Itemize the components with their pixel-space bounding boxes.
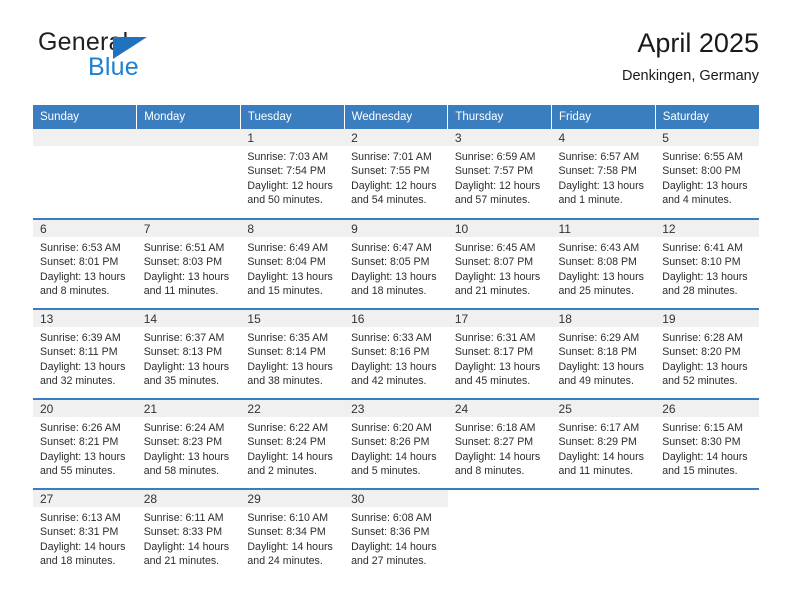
daylight-duration-line1: Daylight: 13 hours bbox=[662, 270, 754, 284]
calendar-day-cell[interactable]: 6Sunrise: 6:53 AMSunset: 8:01 PMDaylight… bbox=[33, 219, 137, 309]
day-number: 26 bbox=[655, 400, 759, 417]
calendar-day-cell[interactable]: 20Sunrise: 6:26 AMSunset: 8:21 PMDayligh… bbox=[33, 399, 137, 489]
calendar-week-row: 20Sunrise: 6:26 AMSunset: 8:21 PMDayligh… bbox=[33, 399, 759, 489]
day-number: 14 bbox=[137, 310, 241, 327]
day-details: Sunrise: 6:08 AMSunset: 8:36 PMDaylight:… bbox=[344, 507, 448, 569]
calendar-body: 1Sunrise: 7:03 AMSunset: 7:54 PMDaylight… bbox=[33, 129, 759, 579]
weekday-header-saturday: Saturday bbox=[655, 105, 759, 129]
day-number: 6 bbox=[33, 220, 137, 237]
daylight-duration-line1: Daylight: 14 hours bbox=[351, 450, 443, 464]
sunrise-time: Sunrise: 6:43 AM bbox=[559, 241, 651, 255]
day-cell-inner: 26Sunrise: 6:15 AMSunset: 8:30 PMDayligh… bbox=[655, 400, 759, 488]
sunrise-time: Sunrise: 6:08 AM bbox=[351, 511, 443, 525]
sunrise-time: Sunrise: 6:35 AM bbox=[247, 331, 339, 345]
day-cell-inner: 28Sunrise: 6:11 AMSunset: 8:33 PMDayligh… bbox=[137, 490, 241, 578]
daylight-duration-line2: and 49 minutes. bbox=[559, 374, 651, 388]
day-number: 7 bbox=[137, 220, 241, 237]
calendar-day-cell[interactable]: 24Sunrise: 6:18 AMSunset: 8:27 PMDayligh… bbox=[448, 399, 552, 489]
day-number bbox=[552, 490, 656, 507]
sunset-time: Sunset: 8:31 PM bbox=[40, 525, 132, 539]
day-cell-inner: 19Sunrise: 6:28 AMSunset: 8:20 PMDayligh… bbox=[655, 310, 759, 398]
day-cell-inner: 22Sunrise: 6:22 AMSunset: 8:24 PMDayligh… bbox=[240, 400, 344, 488]
calendar-day-cell[interactable]: 17Sunrise: 6:31 AMSunset: 8:17 PMDayligh… bbox=[448, 309, 552, 399]
daylight-duration-line1: Daylight: 14 hours bbox=[144, 540, 236, 554]
day-number: 12 bbox=[655, 220, 759, 237]
page-title: April 2025 bbox=[622, 26, 759, 60]
day-number: 19 bbox=[655, 310, 759, 327]
day-number: 10 bbox=[448, 220, 552, 237]
sunset-time: Sunset: 7:54 PM bbox=[247, 164, 339, 178]
day-cell-inner: 5Sunrise: 6:55 AMSunset: 8:00 PMDaylight… bbox=[655, 129, 759, 217]
day-details: Sunrise: 6:37 AMSunset: 8:13 PMDaylight:… bbox=[137, 327, 241, 389]
sunrise-time: Sunrise: 6:28 AM bbox=[662, 331, 754, 345]
daylight-duration-line1: Daylight: 13 hours bbox=[455, 360, 547, 374]
day-cell-inner: 16Sunrise: 6:33 AMSunset: 8:16 PMDayligh… bbox=[344, 310, 448, 398]
calendar-day-cell[interactable]: 30Sunrise: 6:08 AMSunset: 8:36 PMDayligh… bbox=[344, 489, 448, 579]
daylight-duration-line1: Daylight: 13 hours bbox=[247, 360, 339, 374]
sunset-time: Sunset: 8:00 PM bbox=[662, 164, 754, 178]
day-cell-inner: 24Sunrise: 6:18 AMSunset: 8:27 PMDayligh… bbox=[448, 400, 552, 488]
day-details: Sunrise: 6:43 AMSunset: 8:08 PMDaylight:… bbox=[552, 237, 656, 299]
day-cell-inner: 30Sunrise: 6:08 AMSunset: 8:36 PMDayligh… bbox=[344, 490, 448, 578]
sunset-time: Sunset: 7:57 PM bbox=[455, 164, 547, 178]
day-details: Sunrise: 7:01 AMSunset: 7:55 PMDaylight:… bbox=[344, 146, 448, 208]
daylight-duration-line1: Daylight: 13 hours bbox=[351, 360, 443, 374]
day-details: Sunrise: 6:29 AMSunset: 8:18 PMDaylight:… bbox=[552, 327, 656, 389]
daylight-duration-line1: Daylight: 13 hours bbox=[144, 450, 236, 464]
day-number: 25 bbox=[552, 400, 656, 417]
daylight-duration-line1: Daylight: 13 hours bbox=[144, 360, 236, 374]
day-number: 18 bbox=[552, 310, 656, 327]
sunset-time: Sunset: 8:04 PM bbox=[247, 255, 339, 269]
day-number bbox=[655, 490, 759, 507]
sunset-time: Sunset: 8:26 PM bbox=[351, 435, 443, 449]
calendar-day-cell[interactable]: 10Sunrise: 6:45 AMSunset: 8:07 PMDayligh… bbox=[448, 219, 552, 309]
day-details: Sunrise: 6:17 AMSunset: 8:29 PMDaylight:… bbox=[552, 417, 656, 479]
sunset-time: Sunset: 8:34 PM bbox=[247, 525, 339, 539]
daylight-duration-line2: and 18 minutes. bbox=[351, 284, 443, 298]
calendar-day-cell[interactable]: 22Sunrise: 6:22 AMSunset: 8:24 PMDayligh… bbox=[240, 399, 344, 489]
daylight-duration-line1: Daylight: 13 hours bbox=[144, 270, 236, 284]
sunrise-time: Sunrise: 6:10 AM bbox=[247, 511, 339, 525]
sunset-time: Sunset: 7:58 PM bbox=[559, 164, 651, 178]
day-cell-inner: 25Sunrise: 6:17 AMSunset: 8:29 PMDayligh… bbox=[552, 400, 656, 488]
day-cell-inner: 21Sunrise: 6:24 AMSunset: 8:23 PMDayligh… bbox=[137, 400, 241, 488]
sunset-time: Sunset: 8:27 PM bbox=[455, 435, 547, 449]
sunset-time: Sunset: 8:13 PM bbox=[144, 345, 236, 359]
day-details: Sunrise: 6:51 AMSunset: 8:03 PMDaylight:… bbox=[137, 237, 241, 299]
daylight-duration-line2: and 57 minutes. bbox=[455, 193, 547, 207]
daylight-duration-line2: and 28 minutes. bbox=[662, 284, 754, 298]
daylight-duration-line1: Daylight: 12 hours bbox=[351, 179, 443, 193]
sunset-time: Sunset: 8:17 PM bbox=[455, 345, 547, 359]
day-number: 24 bbox=[448, 400, 552, 417]
calendar-day-cell[interactable]: 11Sunrise: 6:43 AMSunset: 8:08 PMDayligh… bbox=[552, 219, 656, 309]
sunset-time: Sunset: 8:14 PM bbox=[247, 345, 339, 359]
sunset-time: Sunset: 8:08 PM bbox=[559, 255, 651, 269]
daylight-duration-line1: Daylight: 13 hours bbox=[40, 450, 132, 464]
sunset-time: Sunset: 7:55 PM bbox=[351, 164, 443, 178]
sunrise-time: Sunrise: 6:22 AM bbox=[247, 421, 339, 435]
day-details: Sunrise: 6:22 AMSunset: 8:24 PMDaylight:… bbox=[240, 417, 344, 479]
sunset-time: Sunset: 8:18 PM bbox=[559, 345, 651, 359]
daylight-duration-line2: and 25 minutes. bbox=[559, 284, 651, 298]
sunset-time: Sunset: 8:03 PM bbox=[144, 255, 236, 269]
sunset-time: Sunset: 8:01 PM bbox=[40, 255, 132, 269]
calendar-empty-cell bbox=[448, 489, 552, 579]
weekday-header-friday: Friday bbox=[552, 105, 656, 129]
calendar-day-cell[interactable]: 15Sunrise: 6:35 AMSunset: 8:14 PMDayligh… bbox=[240, 309, 344, 399]
sunset-time: Sunset: 8:07 PM bbox=[455, 255, 547, 269]
calendar-day-cell[interactable]: 19Sunrise: 6:28 AMSunset: 8:20 PMDayligh… bbox=[655, 309, 759, 399]
day-details: Sunrise: 6:10 AMSunset: 8:34 PMDaylight:… bbox=[240, 507, 344, 569]
page-header: General Blue April 2025 Denkingen, Germa… bbox=[33, 28, 759, 98]
sunset-time: Sunset: 8:24 PM bbox=[247, 435, 339, 449]
day-cell-inner: 3Sunrise: 6:59 AMSunset: 7:57 PMDaylight… bbox=[448, 129, 552, 217]
daylight-duration-line2: and 27 minutes. bbox=[351, 554, 443, 568]
calendar-day-cell[interactable]: 27Sunrise: 6:13 AMSunset: 8:31 PMDayligh… bbox=[33, 489, 137, 579]
calendar-day-cell[interactable]: 4Sunrise: 6:57 AMSunset: 7:58 PMDaylight… bbox=[552, 129, 656, 219]
day-cell-inner bbox=[137, 129, 241, 217]
daylight-duration-line2: and 58 minutes. bbox=[144, 464, 236, 478]
day-details: Sunrise: 6:39 AMSunset: 8:11 PMDaylight:… bbox=[33, 327, 137, 389]
calendar-day-cell[interactable]: 18Sunrise: 6:29 AMSunset: 8:18 PMDayligh… bbox=[552, 309, 656, 399]
daylight-duration-line1: Daylight: 14 hours bbox=[40, 540, 132, 554]
daylight-duration-line1: Daylight: 13 hours bbox=[559, 179, 651, 193]
calendar-day-cell[interactable]: 21Sunrise: 6:24 AMSunset: 8:23 PMDayligh… bbox=[137, 399, 241, 489]
day-details: Sunrise: 6:59 AMSunset: 7:57 PMDaylight:… bbox=[448, 146, 552, 208]
day-number: 30 bbox=[344, 490, 448, 507]
day-cell-inner: 20Sunrise: 6:26 AMSunset: 8:21 PMDayligh… bbox=[33, 400, 137, 488]
calendar-day-cell[interactable]: 13Sunrise: 6:39 AMSunset: 8:11 PMDayligh… bbox=[33, 309, 137, 399]
daylight-duration-line2: and 2 minutes. bbox=[247, 464, 339, 478]
calendar-day-cell[interactable]: 14Sunrise: 6:37 AMSunset: 8:13 PMDayligh… bbox=[137, 309, 241, 399]
day-details: Sunrise: 6:33 AMSunset: 8:16 PMDaylight:… bbox=[344, 327, 448, 389]
daylight-duration-line2: and 1 minute. bbox=[559, 193, 651, 207]
day-details: Sunrise: 6:24 AMSunset: 8:23 PMDaylight:… bbox=[137, 417, 241, 479]
day-number: 3 bbox=[448, 129, 552, 146]
calendar-week-row: 27Sunrise: 6:13 AMSunset: 8:31 PMDayligh… bbox=[33, 489, 759, 579]
daylight-duration-line2: and 52 minutes. bbox=[662, 374, 754, 388]
daylight-duration-line1: Daylight: 13 hours bbox=[662, 360, 754, 374]
logo-text-blue: Blue bbox=[88, 53, 139, 82]
day-cell-inner: 11Sunrise: 6:43 AMSunset: 8:08 PMDayligh… bbox=[552, 220, 656, 308]
day-details: Sunrise: 6:28 AMSunset: 8:20 PMDaylight:… bbox=[655, 327, 759, 389]
sunrise-time: Sunrise: 6:39 AM bbox=[40, 331, 132, 345]
sunrise-time: Sunrise: 6:18 AM bbox=[455, 421, 547, 435]
day-number: 17 bbox=[448, 310, 552, 327]
day-number: 2 bbox=[344, 129, 448, 146]
sunrise-time: Sunrise: 6:11 AM bbox=[144, 511, 236, 525]
sunset-time: Sunset: 8:30 PM bbox=[662, 435, 754, 449]
day-number: 1 bbox=[240, 129, 344, 146]
calendar-day-cell[interactable]: 12Sunrise: 6:41 AMSunset: 8:10 PMDayligh… bbox=[655, 219, 759, 309]
daylight-duration-line1: Daylight: 13 hours bbox=[559, 360, 651, 374]
calendar-empty-cell bbox=[33, 129, 137, 219]
day-details: Sunrise: 6:35 AMSunset: 8:14 PMDaylight:… bbox=[240, 327, 344, 389]
sunrise-time: Sunrise: 6:17 AM bbox=[559, 421, 651, 435]
day-details bbox=[137, 146, 241, 150]
daylight-duration-line2: and 21 minutes. bbox=[455, 284, 547, 298]
daylight-duration-line1: Daylight: 14 hours bbox=[455, 450, 547, 464]
day-number: 23 bbox=[344, 400, 448, 417]
sunrise-time: Sunrise: 7:03 AM bbox=[247, 150, 339, 164]
day-cell-inner bbox=[33, 129, 137, 217]
weekday-header-tuesday: Tuesday bbox=[240, 105, 344, 129]
day-cell-inner: 27Sunrise: 6:13 AMSunset: 8:31 PMDayligh… bbox=[33, 490, 137, 578]
daylight-duration-line2: and 8 minutes. bbox=[455, 464, 547, 478]
calendar-week-row: 6Sunrise: 6:53 AMSunset: 8:01 PMDaylight… bbox=[33, 219, 759, 309]
daylight-duration-line2: and 11 minutes. bbox=[144, 284, 236, 298]
calendar-day-cell[interactable]: 2Sunrise: 7:01 AMSunset: 7:55 PMDaylight… bbox=[344, 129, 448, 219]
sunrise-time: Sunrise: 6:45 AM bbox=[455, 241, 547, 255]
day-details bbox=[33, 146, 137, 150]
day-number: 20 bbox=[33, 400, 137, 417]
day-number bbox=[33, 129, 137, 146]
calendar-page: General Blue April 2025 Denkingen, Germa… bbox=[0, 0, 792, 612]
weekday-header-thursday: Thursday bbox=[448, 105, 552, 129]
page-subtitle: Denkingen, Germany bbox=[622, 65, 759, 87]
sunset-time: Sunset: 8:10 PM bbox=[662, 255, 754, 269]
day-cell-inner: 4Sunrise: 6:57 AMSunset: 7:58 PMDaylight… bbox=[552, 129, 656, 217]
day-number: 22 bbox=[240, 400, 344, 417]
daylight-duration-line1: Daylight: 14 hours bbox=[662, 450, 754, 464]
day-number: 21 bbox=[137, 400, 241, 417]
calendar-day-cell[interactable]: 23Sunrise: 6:20 AMSunset: 8:26 PMDayligh… bbox=[344, 399, 448, 489]
sunset-time: Sunset: 8:16 PM bbox=[351, 345, 443, 359]
day-details: Sunrise: 7:03 AMSunset: 7:54 PMDaylight:… bbox=[240, 146, 344, 208]
daylight-duration-line1: Daylight: 13 hours bbox=[662, 179, 754, 193]
daylight-duration-line2: and 24 minutes. bbox=[247, 554, 339, 568]
day-number: 11 bbox=[552, 220, 656, 237]
day-details: Sunrise: 6:41 AMSunset: 8:10 PMDaylight:… bbox=[655, 237, 759, 299]
daylight-duration-line1: Daylight: 14 hours bbox=[247, 540, 339, 554]
sunrise-time: Sunrise: 6:33 AM bbox=[351, 331, 443, 345]
sunset-time: Sunset: 8:21 PM bbox=[40, 435, 132, 449]
day-details: Sunrise: 6:11 AMSunset: 8:33 PMDaylight:… bbox=[137, 507, 241, 569]
calendar-day-cell[interactable]: 3Sunrise: 6:59 AMSunset: 7:57 PMDaylight… bbox=[448, 129, 552, 219]
sunset-time: Sunset: 8:11 PM bbox=[40, 345, 132, 359]
daylight-duration-line2: and 15 minutes. bbox=[662, 464, 754, 478]
daylight-duration-line2: and 32 minutes. bbox=[40, 374, 132, 388]
day-details: Sunrise: 6:47 AMSunset: 8:05 PMDaylight:… bbox=[344, 237, 448, 299]
day-details: Sunrise: 6:13 AMSunset: 8:31 PMDaylight:… bbox=[33, 507, 137, 569]
daylight-duration-line2: and 50 minutes. bbox=[247, 193, 339, 207]
daylight-duration-line2: and 38 minutes. bbox=[247, 374, 339, 388]
sunrise-time: Sunrise: 6:29 AM bbox=[559, 331, 651, 345]
daylight-duration-line2: and 18 minutes. bbox=[40, 554, 132, 568]
day-cell-inner: 17Sunrise: 6:31 AMSunset: 8:17 PMDayligh… bbox=[448, 310, 552, 398]
daylight-duration-line1: Daylight: 14 hours bbox=[247, 450, 339, 464]
daylight-duration-line1: Daylight: 14 hours bbox=[351, 540, 443, 554]
day-details: Sunrise: 6:20 AMSunset: 8:26 PMDaylight:… bbox=[344, 417, 448, 479]
daylight-duration-line1: Daylight: 13 hours bbox=[247, 270, 339, 284]
daylight-duration-line2: and 55 minutes. bbox=[40, 464, 132, 478]
day-number: 5 bbox=[655, 129, 759, 146]
day-cell-inner bbox=[448, 490, 552, 578]
day-details: Sunrise: 6:26 AMSunset: 8:21 PMDaylight:… bbox=[33, 417, 137, 479]
weekday-header-wednesday: Wednesday bbox=[344, 105, 448, 129]
sunrise-time: Sunrise: 6:41 AM bbox=[662, 241, 754, 255]
daylight-duration-line2: and 15 minutes. bbox=[247, 284, 339, 298]
daylight-duration-line2: and 54 minutes. bbox=[351, 193, 443, 207]
daylight-duration-line2: and 21 minutes. bbox=[144, 554, 236, 568]
day-cell-inner: 12Sunrise: 6:41 AMSunset: 8:10 PMDayligh… bbox=[655, 220, 759, 308]
day-details bbox=[655, 507, 759, 511]
daylight-duration-line1: Daylight: 13 hours bbox=[455, 270, 547, 284]
daylight-duration-line1: Daylight: 13 hours bbox=[559, 270, 651, 284]
calendar-day-cell[interactable]: 25Sunrise: 6:17 AMSunset: 8:29 PMDayligh… bbox=[552, 399, 656, 489]
sunset-time: Sunset: 8:29 PM bbox=[559, 435, 651, 449]
day-cell-inner: 6Sunrise: 6:53 AMSunset: 8:01 PMDaylight… bbox=[33, 220, 137, 308]
sunrise-time: Sunrise: 7:01 AM bbox=[351, 150, 443, 164]
calendar-empty-cell bbox=[137, 129, 241, 219]
calendar-week-row: 13Sunrise: 6:39 AMSunset: 8:11 PMDayligh… bbox=[33, 309, 759, 399]
day-details: Sunrise: 6:53 AMSunset: 8:01 PMDaylight:… bbox=[33, 237, 137, 299]
sunrise-time: Sunrise: 6:59 AM bbox=[455, 150, 547, 164]
sunrise-time: Sunrise: 6:51 AM bbox=[144, 241, 236, 255]
day-cell-inner: 13Sunrise: 6:39 AMSunset: 8:11 PMDayligh… bbox=[33, 310, 137, 398]
sunrise-time: Sunrise: 6:49 AM bbox=[247, 241, 339, 255]
day-number: 16 bbox=[344, 310, 448, 327]
sunset-time: Sunset: 8:33 PM bbox=[144, 525, 236, 539]
sunrise-time: Sunrise: 6:13 AM bbox=[40, 511, 132, 525]
day-details: Sunrise: 6:45 AMSunset: 8:07 PMDaylight:… bbox=[448, 237, 552, 299]
sunrise-time: Sunrise: 6:47 AM bbox=[351, 241, 443, 255]
day-number bbox=[448, 490, 552, 507]
calendar-day-cell[interactable]: 26Sunrise: 6:15 AMSunset: 8:30 PMDayligh… bbox=[655, 399, 759, 489]
daylight-duration-line1: Daylight: 13 hours bbox=[40, 360, 132, 374]
calendar-empty-cell bbox=[655, 489, 759, 579]
day-number: 29 bbox=[240, 490, 344, 507]
day-details: Sunrise: 6:31 AMSunset: 8:17 PMDaylight:… bbox=[448, 327, 552, 389]
day-number: 13 bbox=[33, 310, 137, 327]
day-cell-inner: 14Sunrise: 6:37 AMSunset: 8:13 PMDayligh… bbox=[137, 310, 241, 398]
daylight-duration-line2: and 42 minutes. bbox=[351, 374, 443, 388]
calendar-day-cell[interactable]: 1Sunrise: 7:03 AMSunset: 7:54 PMDaylight… bbox=[240, 129, 344, 219]
day-details: Sunrise: 6:55 AMSunset: 8:00 PMDaylight:… bbox=[655, 146, 759, 208]
day-details bbox=[552, 507, 656, 511]
sunrise-time: Sunrise: 6:37 AM bbox=[144, 331, 236, 345]
daylight-duration-line2: and 45 minutes. bbox=[455, 374, 547, 388]
daylight-duration-line1: Daylight: 13 hours bbox=[351, 270, 443, 284]
daylight-duration-line1: Daylight: 14 hours bbox=[559, 450, 651, 464]
daylight-duration-line2: and 35 minutes. bbox=[144, 374, 236, 388]
sunset-time: Sunset: 8:23 PM bbox=[144, 435, 236, 449]
day-details bbox=[448, 507, 552, 511]
weekday-header-row: Sunday Monday Tuesday Wednesday Thursday… bbox=[33, 105, 759, 129]
daylight-duration-line1: Daylight: 12 hours bbox=[247, 179, 339, 193]
day-cell-inner bbox=[655, 490, 759, 578]
sunset-time: Sunset: 8:20 PM bbox=[662, 345, 754, 359]
calendar-day-cell[interactable]: 29Sunrise: 6:10 AMSunset: 8:34 PMDayligh… bbox=[240, 489, 344, 579]
weekday-header-monday: Monday bbox=[137, 105, 241, 129]
sunrise-time: Sunrise: 6:55 AM bbox=[662, 150, 754, 164]
day-cell-inner: 23Sunrise: 6:20 AMSunset: 8:26 PMDayligh… bbox=[344, 400, 448, 488]
day-cell-inner: 7Sunrise: 6:51 AMSunset: 8:03 PMDaylight… bbox=[137, 220, 241, 308]
daylight-duration-line1: Daylight: 13 hours bbox=[40, 270, 132, 284]
day-cell-inner bbox=[552, 490, 656, 578]
title-block: April 2025 Denkingen, Germany bbox=[622, 26, 759, 87]
calendar-day-cell[interactable]: 7Sunrise: 6:51 AMSunset: 8:03 PMDaylight… bbox=[137, 219, 241, 309]
sunrise-time: Sunrise: 6:26 AM bbox=[40, 421, 132, 435]
weekday-header-sunday: Sunday bbox=[33, 105, 137, 129]
calendar-week-row: 1Sunrise: 7:03 AMSunset: 7:54 PMDaylight… bbox=[33, 129, 759, 219]
calendar-day-cell[interactable]: 5Sunrise: 6:55 AMSunset: 8:00 PMDaylight… bbox=[655, 129, 759, 219]
day-details: Sunrise: 6:49 AMSunset: 8:04 PMDaylight:… bbox=[240, 237, 344, 299]
day-cell-inner: 2Sunrise: 7:01 AMSunset: 7:55 PMDaylight… bbox=[344, 129, 448, 217]
day-number: 27 bbox=[33, 490, 137, 507]
day-number: 4 bbox=[552, 129, 656, 146]
day-cell-inner: 10Sunrise: 6:45 AMSunset: 8:07 PMDayligh… bbox=[448, 220, 552, 308]
daylight-duration-line2: and 4 minutes. bbox=[662, 193, 754, 207]
sunrise-time: Sunrise: 6:57 AM bbox=[559, 150, 651, 164]
day-number: 9 bbox=[344, 220, 448, 237]
daylight-duration-line2: and 5 minutes. bbox=[351, 464, 443, 478]
calendar-day-cell[interactable]: 28Sunrise: 6:11 AMSunset: 8:33 PMDayligh… bbox=[137, 489, 241, 579]
general-blue-logo[interactable]: General Blue bbox=[33, 28, 273, 90]
sunrise-time: Sunrise: 6:24 AM bbox=[144, 421, 236, 435]
calendar-day-cell[interactable]: 8Sunrise: 6:49 AMSunset: 8:04 PMDaylight… bbox=[240, 219, 344, 309]
sunrise-time: Sunrise: 6:53 AM bbox=[40, 241, 132, 255]
sunset-time: Sunset: 8:36 PM bbox=[351, 525, 443, 539]
calendar-empty-cell bbox=[552, 489, 656, 579]
day-cell-inner: 29Sunrise: 6:10 AMSunset: 8:34 PMDayligh… bbox=[240, 490, 344, 578]
daylight-duration-line1: Daylight: 12 hours bbox=[455, 179, 547, 193]
day-details: Sunrise: 6:57 AMSunset: 7:58 PMDaylight:… bbox=[552, 146, 656, 208]
day-number bbox=[137, 129, 241, 146]
day-cell-inner: 18Sunrise: 6:29 AMSunset: 8:18 PMDayligh… bbox=[552, 310, 656, 398]
day-cell-inner: 9Sunrise: 6:47 AMSunset: 8:05 PMDaylight… bbox=[344, 220, 448, 308]
day-cell-inner: 1Sunrise: 7:03 AMSunset: 7:54 PMDaylight… bbox=[240, 129, 344, 217]
calendar-day-cell[interactable]: 16Sunrise: 6:33 AMSunset: 8:16 PMDayligh… bbox=[344, 309, 448, 399]
day-number: 28 bbox=[137, 490, 241, 507]
daylight-duration-line2: and 11 minutes. bbox=[559, 464, 651, 478]
day-details: Sunrise: 6:15 AMSunset: 8:30 PMDaylight:… bbox=[655, 417, 759, 479]
day-number: 15 bbox=[240, 310, 344, 327]
day-details: Sunrise: 6:18 AMSunset: 8:27 PMDaylight:… bbox=[448, 417, 552, 479]
sunrise-time: Sunrise: 6:20 AM bbox=[351, 421, 443, 435]
day-cell-inner: 8Sunrise: 6:49 AMSunset: 8:04 PMDaylight… bbox=[240, 220, 344, 308]
sunrise-time: Sunrise: 6:15 AM bbox=[662, 421, 754, 435]
daylight-duration-line2: and 8 minutes. bbox=[40, 284, 132, 298]
calendar-grid: Sunday Monday Tuesday Wednesday Thursday… bbox=[33, 105, 759, 579]
day-number: 8 bbox=[240, 220, 344, 237]
sunset-time: Sunset: 8:05 PM bbox=[351, 255, 443, 269]
sunrise-time: Sunrise: 6:31 AM bbox=[455, 331, 547, 345]
calendar-day-cell[interactable]: 9Sunrise: 6:47 AMSunset: 8:05 PMDaylight… bbox=[344, 219, 448, 309]
day-cell-inner: 15Sunrise: 6:35 AMSunset: 8:14 PMDayligh… bbox=[240, 310, 344, 398]
